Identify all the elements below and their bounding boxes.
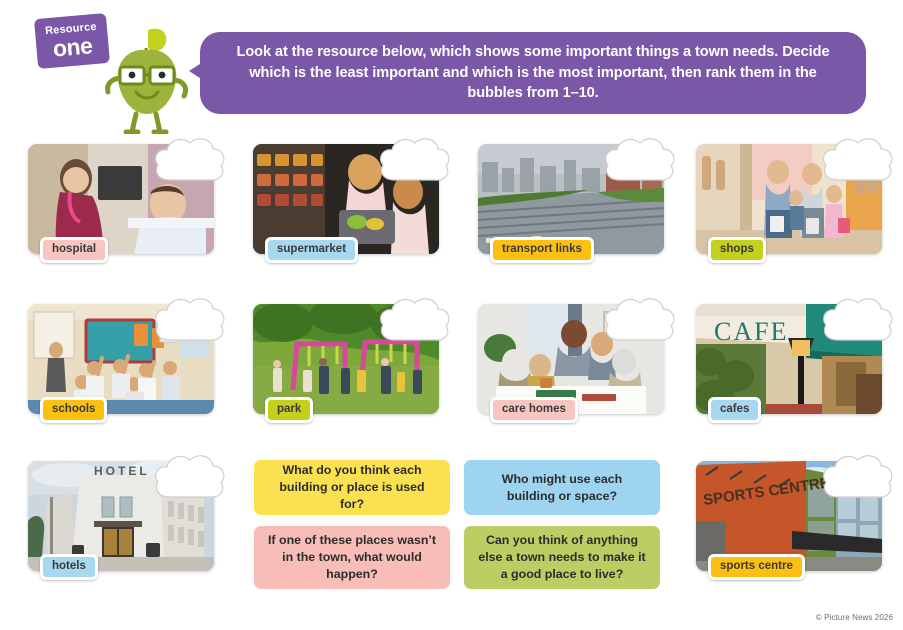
- ranking-cloud-bubble-park[interactable]: [375, 294, 453, 352]
- card-label-hospital: hospital: [40, 237, 108, 264]
- ranking-cloud-bubble-supermarket[interactable]: [375, 134, 453, 192]
- card-label-park: park: [265, 397, 313, 424]
- ranking-cloud-bubble-hotels[interactable]: [150, 451, 228, 509]
- resource-one-badge: Resource one: [34, 13, 110, 69]
- card-label-transport-links: transport links: [490, 237, 594, 264]
- resource-worksheet-page: Resource one: [0, 0, 903, 630]
- apple-mascot-icon: [92, 22, 202, 134]
- resource-card-park[interactable]: park: [253, 296, 443, 414]
- question-box-missing-place[interactable]: If one of these places wasn’t in the tow…: [254, 526, 450, 589]
- page-header: Resource one: [0, 0, 903, 128]
- question-box-usage[interactable]: What do you think each building or place…: [254, 460, 450, 515]
- copyright-notice: © Picture News 2026: [816, 613, 893, 622]
- resource-card-sports-centre[interactable]: SPORTS CENTRE sports centre: [696, 453, 886, 571]
- card-label-care-homes: care homes: [490, 397, 578, 424]
- ranking-cloud-bubble-cafes[interactable]: [818, 294, 896, 352]
- question-box-users[interactable]: Who might use each building or space?: [464, 460, 660, 515]
- svg-text:HOTEL: HOTEL: [94, 464, 150, 478]
- resource-card-cafes[interactable]: CAFE: [696, 296, 886, 414]
- badge-line-one: one: [52, 34, 93, 60]
- resource-card-hospital[interactable]: hospital: [28, 136, 218, 254]
- card-label-schools: schools: [40, 397, 107, 424]
- resource-card-care-homes[interactable]: care homes: [478, 296, 668, 414]
- instruction-speech-bubble: Look at the resource below, which shows …: [200, 32, 866, 114]
- ranking-cloud-bubble-transport-links[interactable]: [600, 134, 678, 192]
- ranking-cloud-bubble-schools[interactable]: [150, 294, 228, 352]
- card-label-sports-centre: sports centre: [708, 554, 805, 581]
- resource-grid: hospital: [0, 128, 903, 630]
- card-label-supermarket: supermarket: [265, 237, 358, 264]
- resource-card-schools[interactable]: schools: [28, 296, 218, 414]
- ranking-cloud-bubble-shops[interactable]: [818, 134, 896, 192]
- resource-card-shops[interactable]: shops: [696, 136, 886, 254]
- ranking-cloud-bubble-sports-centre[interactable]: [818, 451, 896, 509]
- card-label-hotels: hotels: [40, 554, 98, 581]
- card-label-shops: shops: [708, 237, 766, 264]
- ranking-cloud-bubble-care-homes[interactable]: [600, 294, 678, 352]
- resource-card-transport-links[interactable]: transport links: [478, 136, 668, 254]
- instruction-text: Look at the resource below, which shows …: [226, 42, 840, 104]
- resource-card-hotels[interactable]: HOTEL: [28, 453, 218, 571]
- resource-card-supermarket[interactable]: supermarket: [253, 136, 443, 254]
- card-label-cafes: cafes: [708, 397, 761, 424]
- ranking-cloud-bubble-hospital[interactable]: [150, 134, 228, 192]
- svg-text:CAFE: CAFE: [714, 317, 788, 346]
- question-box-other-needs[interactable]: Can you think of anything else a town ne…: [464, 526, 660, 589]
